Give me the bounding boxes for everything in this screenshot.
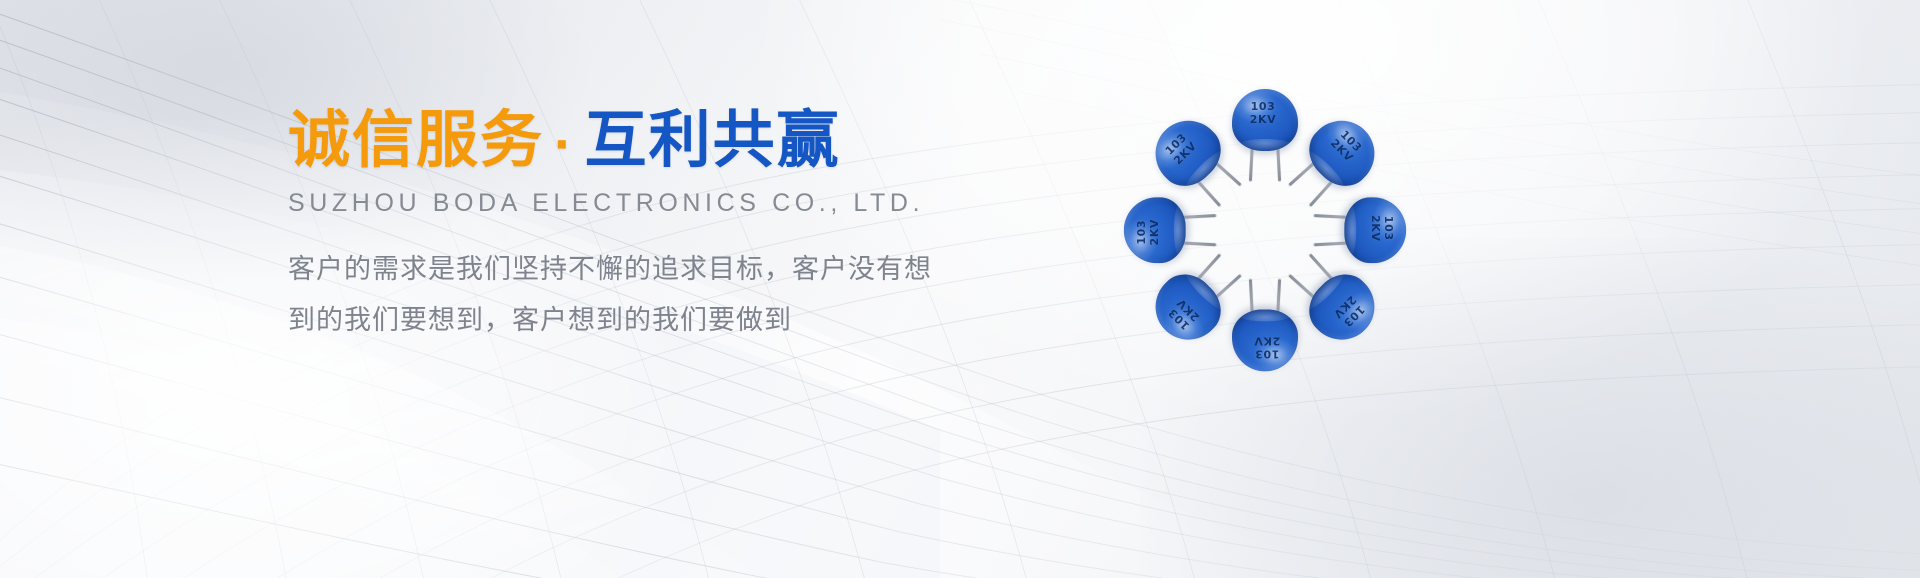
capacitor-radial-arrangement: 1032KV1032KV1032KV1032KV1032KV1032KV1032… bbox=[1105, 55, 1425, 395]
product-image-capacitor-cluster: 1032KV1032KV1032KV1032KV1032KV1032KV1032… bbox=[1105, 55, 1425, 395]
capacitor-disc bbox=[1232, 89, 1298, 151]
capacitor-disc bbox=[1142, 107, 1233, 198]
headline-separator-dot: · bbox=[544, 112, 585, 175]
body-line-1: 客户的需求是我们坚持不懈的追求目标，客户没有想 bbox=[288, 244, 948, 295]
capacitor-disc bbox=[1298, 107, 1389, 198]
headline-part-blue: 互利共赢 bbox=[585, 106, 841, 175]
banner-text-block: 诚信服务·互利共赢 SUZHOU BODA ELECTRONICS CO., L… bbox=[288, 108, 948, 346]
body-line-2: 到的我们要想到，客户想到的我们要做到 bbox=[288, 295, 948, 346]
headline-part-orange: 诚信服务 bbox=[288, 106, 544, 175]
capacitor-disc bbox=[1142, 263, 1233, 354]
hero-banner: 诚信服务·互利共赢 SUZHOU BODA ELECTRONICS CO., L… bbox=[0, 0, 1920, 578]
capacitor-disc bbox=[1298, 263, 1389, 354]
capacitor-disc bbox=[1232, 309, 1298, 371]
capacitor-disc bbox=[1344, 197, 1406, 263]
banner-headline: 诚信服务·互利共赢 bbox=[288, 108, 948, 175]
capacitor-disc bbox=[1124, 197, 1186, 263]
banner-body-text: 客户的需求是我们坚持不懈的追求目标，客户没有想 到的我们要想到，客户想到的我们要… bbox=[288, 244, 948, 346]
banner-subtitle-english: SUZHOU BODA ELECTRONICS CO., LTD. bbox=[288, 189, 948, 218]
